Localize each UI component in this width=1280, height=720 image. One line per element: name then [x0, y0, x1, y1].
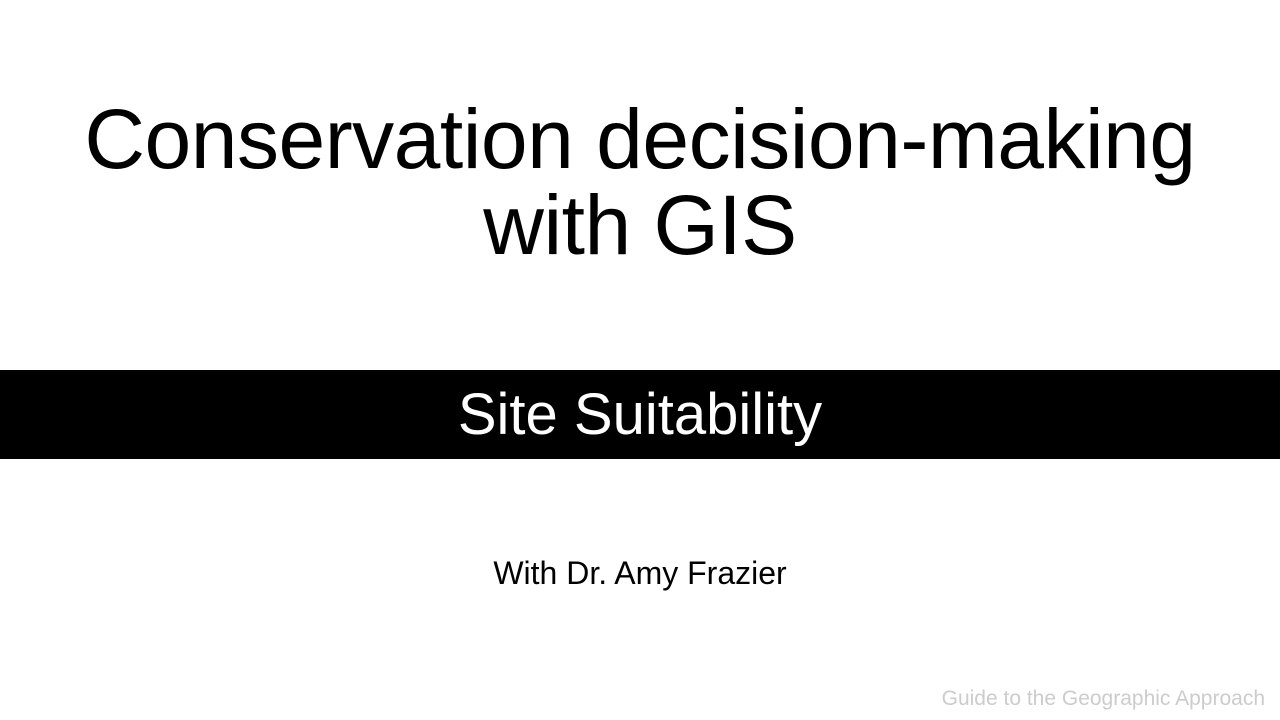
- slide-subtitle: With Dr. Amy Frazier: [0, 553, 1280, 593]
- section-banner: Site Suitability: [0, 370, 1280, 459]
- slide-footer: Guide to the Geographic Approach: [942, 686, 1265, 712]
- presentation-slide: Conservation decision-making with GIS Si…: [0, 0, 1280, 720]
- slide-title: Conservation decision-making with GIS: [0, 96, 1280, 268]
- section-banner-text: Site Suitability: [458, 383, 822, 447]
- slide-footer-text: Guide to the Geographic Approach: [942, 687, 1265, 710]
- slide-subtitle-text: With Dr. Amy Frazier: [493, 555, 786, 591]
- slide-title-text: Conservation decision-making with GIS: [0, 96, 1280, 268]
